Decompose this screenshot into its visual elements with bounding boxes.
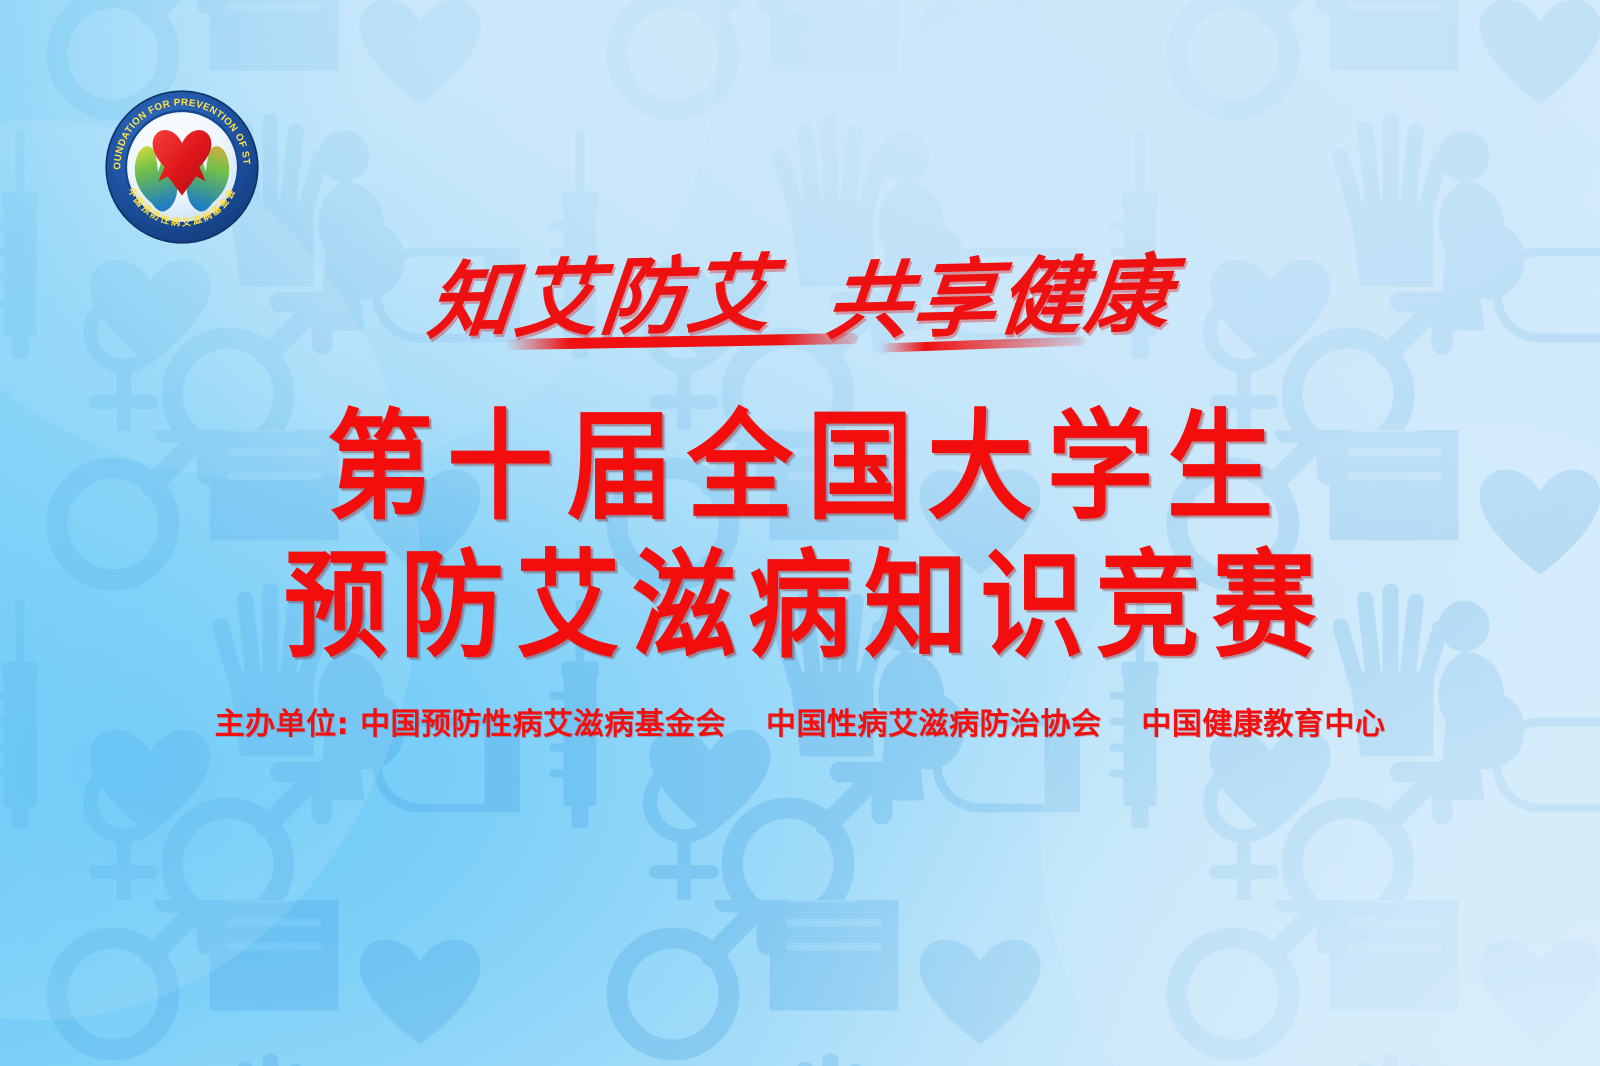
organizer-2: 中国性病艾滋病防治协会 xyxy=(766,707,1102,742)
organizers-line: 主办单位: 中国预防性病艾滋病基金会 中国性病艾滋病防治协会 中国健康教育中心 xyxy=(0,704,1600,746)
title-line-1: 第十届全国大学生 xyxy=(0,398,1600,537)
poster-canvas: CHINESE FOUNDATION FOR PREVENTION OF STD… xyxy=(0,0,1600,1066)
title-line-2: 预防艾滋病知识竞赛 xyxy=(0,536,1600,675)
organization-logo: CHINESE FOUNDATION FOR PREVENTION OF STD… xyxy=(103,94,261,224)
organizers-label: 主办单位: xyxy=(215,707,350,742)
page-title: 第十届全国大学生 预防艾滋病知识竞赛 xyxy=(0,398,1600,660)
organizer-1: 中国预防性病艾滋病基金会 xyxy=(360,707,726,742)
organizer-3: 中国健康教育中心 xyxy=(1141,707,1385,742)
